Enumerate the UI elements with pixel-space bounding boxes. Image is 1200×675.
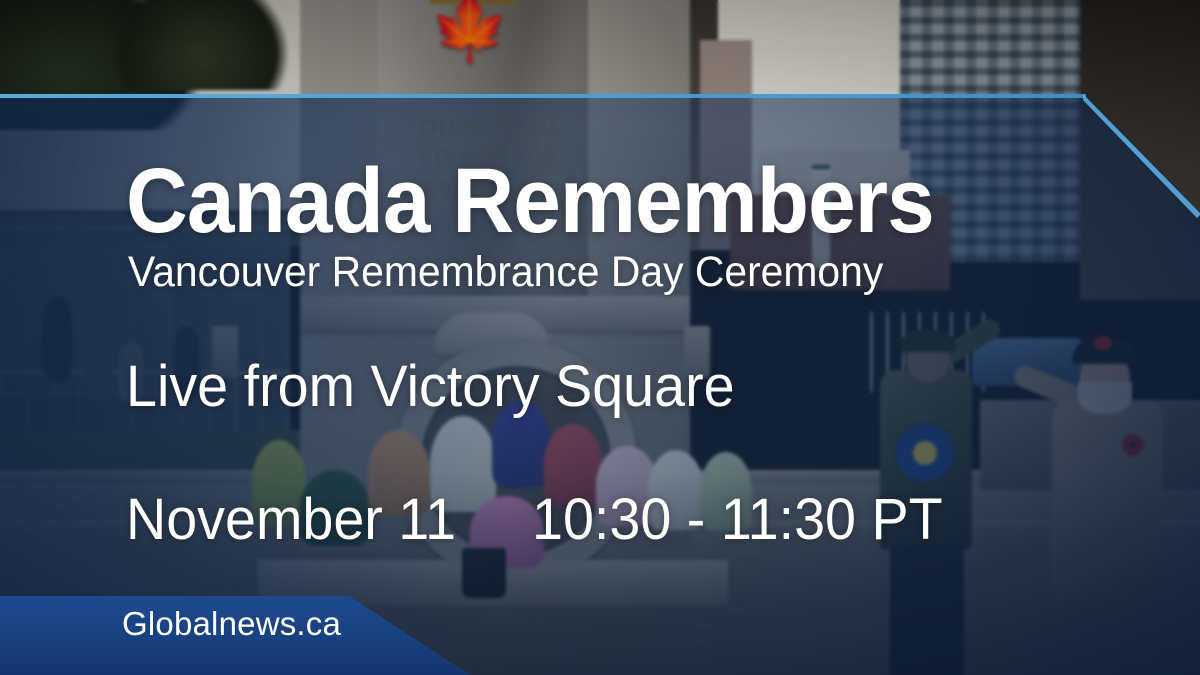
venue-line: Live from Victory Square bbox=[126, 356, 735, 418]
event-date: November 11 bbox=[126, 489, 456, 551]
event-subtitle: Vancouver Remembrance Day Ceremony bbox=[128, 249, 883, 295]
event-time: 10:30 - 11:30 PT bbox=[532, 489, 943, 551]
page-title: Canada Remembers bbox=[126, 155, 934, 247]
broadcast-promo-graphic: 🍁 THEIR NAME LIVETH FOR EVERMORE bbox=[0, 0, 1200, 675]
brand-name[interactable]: Globalnews.ca bbox=[122, 604, 341, 644]
datetime-row: November 11 10:30 - 11:30 PT bbox=[126, 489, 960, 551]
overlay-accent-line-top bbox=[0, 94, 1086, 98]
